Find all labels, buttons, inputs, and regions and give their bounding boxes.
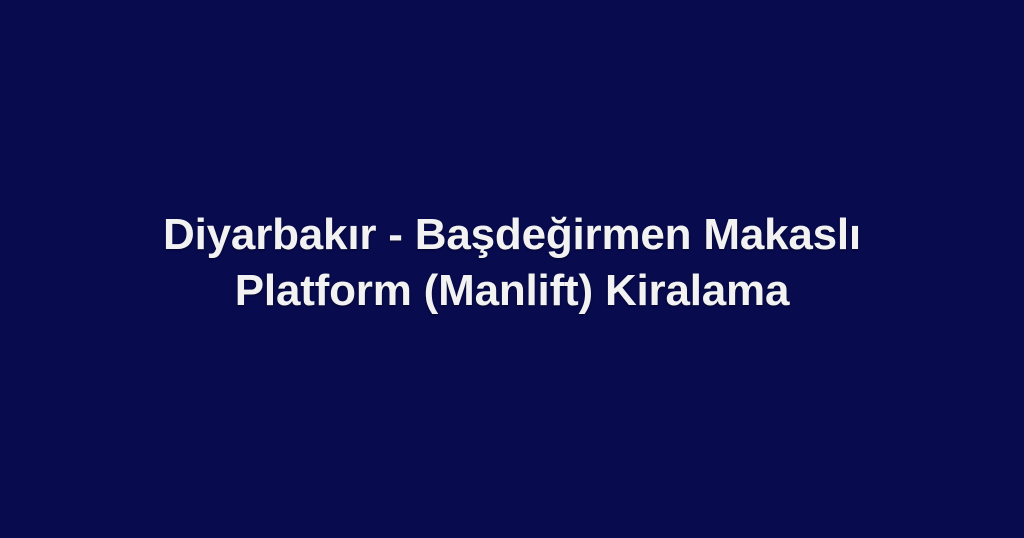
page-title: Diyarbakır - Başdeğirmen Makaslı Platfor… bbox=[72, 207, 952, 319]
preview-card: Diyarbakır - Başdeğirmen Makaslı Platfor… bbox=[0, 0, 1024, 538]
page-title-line-1: Diyarbakır - Başdeğirmen Makaslı bbox=[72, 207, 952, 263]
page-title-line-2: Platform (Manlift) Kiralama bbox=[72, 263, 952, 319]
